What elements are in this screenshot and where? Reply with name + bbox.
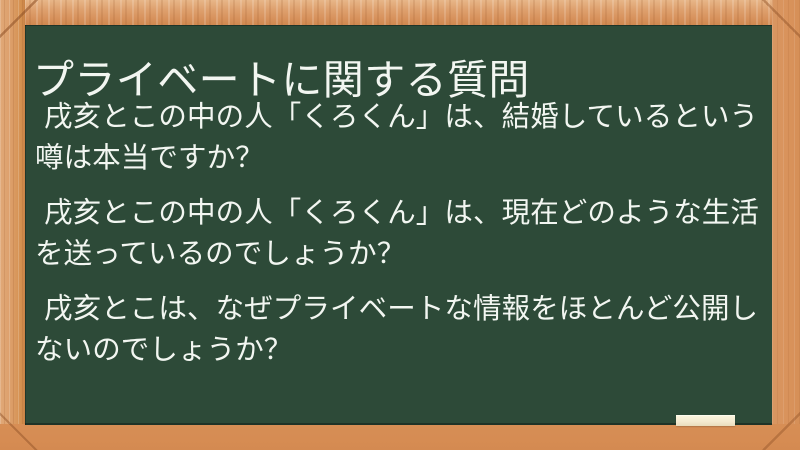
frame-top-rail: [0, 0, 800, 25]
list-item: 戌亥とこは、なぜプライベートな情報をほとんど公開しないのでしょうか？: [35, 289, 759, 371]
list-item: 戌亥とこの中の人「くろくん」は、現在どのような生活を送っているのでしょうか？: [35, 193, 759, 275]
question-list: 戌亥とこの中の人「くろくん」は、結婚しているという噂は本当ですか？ 戌亥とこの中…: [35, 97, 759, 371]
chalkboard: プライベートに関する質問 戌亥とこの中の人「くろくん」は、結婚しているという噂は…: [25, 25, 772, 425]
chalk-eraser-icon: [676, 415, 735, 426]
frame-bottom-rail: [0, 424, 800, 450]
frame-right-rail: [772, 0, 800, 450]
list-item: 戌亥とこの中の人「くろくん」は、結婚しているという噂は本当ですか？: [35, 97, 759, 179]
slide-canvas: プライベートに関する質問 戌亥とこの中の人「くろくん」は、結婚しているという噂は…: [0, 0, 800, 450]
frame-left-rail: [0, 0, 25, 450]
